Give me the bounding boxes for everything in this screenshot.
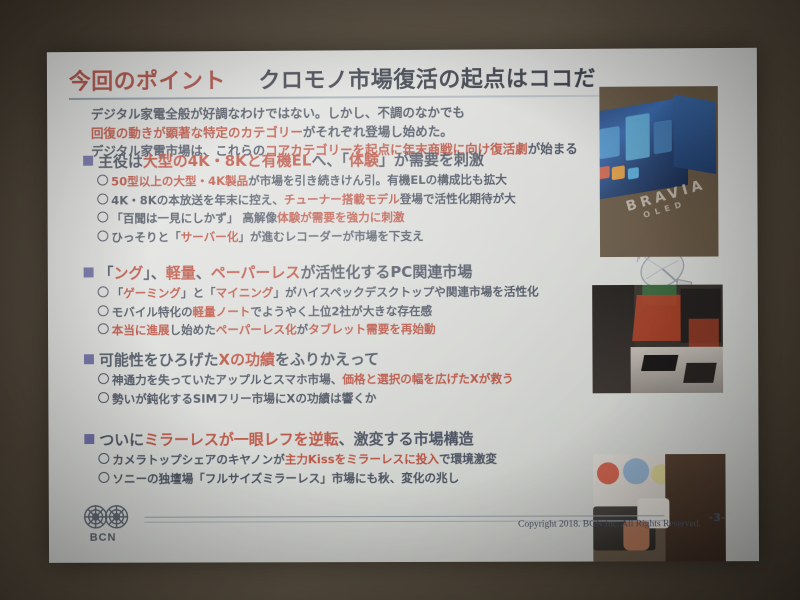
square-bullet-icon bbox=[84, 434, 94, 444]
section-bullet: モバイル特化の軽量ノートでようやく上位2社が大きな存在感 bbox=[98, 300, 638, 321]
circle-bullet-icon bbox=[98, 392, 109, 403]
circle-bullet-icon bbox=[98, 453, 109, 464]
bcn-logo-icon: BCN bbox=[81, 503, 143, 547]
section-bullet: ひっそりと「サーバー化」が進むレコーダーが市場を下支え bbox=[97, 225, 637, 246]
slide-title-red: 今回のポイント bbox=[69, 69, 226, 95]
section-heading: ついにミラーレスが一眼レフを逆転、激変する市場構造 bbox=[84, 428, 638, 451]
square-bullet-icon bbox=[84, 354, 94, 364]
copyright-notice: Copyright 2018. BCN Inc. All Rights Rese… bbox=[518, 519, 701, 530]
gaming-pc-photo bbox=[592, 285, 723, 394]
section-bullet: カメラトップシェアのキヤノンが主力Kissをミラーレスに投入で環境激変 bbox=[98, 449, 638, 469]
square-bullet-icon bbox=[83, 156, 93, 166]
section-x-achievement: 可能性をひろげたXの功績をふりかえって神通力を失っていたアップルとスマホ市場、価… bbox=[84, 348, 638, 408]
section-bullet: ソニーの独壇場「フルサイズミラーレス」市場にも秋、変化の兆し bbox=[98, 468, 638, 488]
section-heading: 「ング」、軽量、ペーパーレスが活性化するPC関連市場 bbox=[84, 261, 638, 285]
section-heading: 主役は大型の4K・8Kと有機ELへ、「体験」が需要を刺激 bbox=[83, 149, 637, 173]
section-pc-market: 「ング」、軽量、ペーパーレスが活性化するPC関連市場「ゲーミング」と「マイニング… bbox=[84, 261, 638, 340]
section-tv-market: 主役は大型の4K・8Kと有機ELへ、「体験」が需要を刺激50型以上の大型・4K製… bbox=[83, 149, 637, 247]
circle-bullet-icon bbox=[98, 373, 109, 384]
presentation-slide: 今回のポイント クロモノ市場復活の起点はココだ デジタル家電全般が好調なわけでは… bbox=[47, 48, 759, 563]
bcn-logo-label: BCN bbox=[90, 532, 117, 544]
slide-title-dark: クロモノ市場復活の起点はココだ bbox=[258, 67, 596, 94]
section-heading: 可能性をひろげたXの功績をふりかえって bbox=[84, 348, 638, 371]
circle-bullet-icon bbox=[98, 305, 109, 316]
square-bullet-icon bbox=[84, 267, 94, 277]
section-bullet: 本当に進展し始めたペーパーレス化がタブレット需要を再始動 bbox=[98, 319, 638, 340]
circle-bullet-icon bbox=[98, 286, 109, 297]
circle-bullet-icon bbox=[97, 230, 108, 241]
page-number: -3- bbox=[709, 511, 726, 524]
section-bullet: 勢いが鈍化するSIMフリー市場にXの功績は響くか bbox=[98, 388, 638, 408]
section-camera-market: ついにミラーレスが一眼レフを逆転、激変する市場構造カメラトップシェアのキヤノンが… bbox=[84, 428, 638, 488]
circle-bullet-icon bbox=[97, 211, 108, 222]
intro-line: 回復の動きが顕著な特定のカテゴリーがそれぞれ登場し始めた。 bbox=[91, 121, 627, 142]
section-bullet: 神通力を失っていたアップルとスマホ市場、価格と選択の幅を広げたXが救う bbox=[98, 369, 638, 390]
intro-line: デジタル家電全般が好調なわけではない。しかし、不調のなかでも bbox=[91, 103, 627, 124]
circle-bullet-icon bbox=[98, 323, 109, 334]
circle-bullet-icon bbox=[97, 175, 108, 186]
circle-bullet-icon bbox=[97, 193, 108, 204]
section-bullet: 「ゲーミング」と「マイニング」がハイスペックデスクトップや関連市場を活性化 bbox=[98, 282, 638, 303]
mirrorless-camera-photo bbox=[593, 454, 726, 563]
circle-bullet-icon bbox=[98, 471, 109, 482]
bravia-oled-tv-photo: BRAVIA OLED bbox=[599, 86, 718, 257]
